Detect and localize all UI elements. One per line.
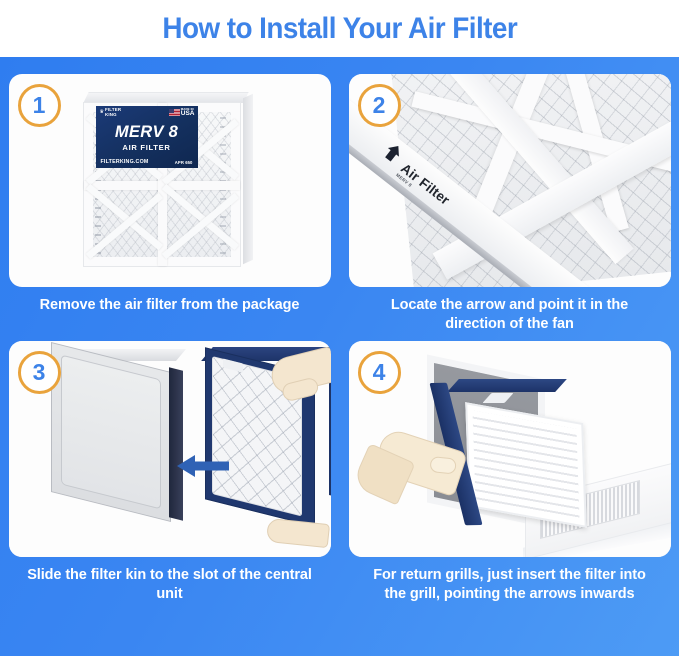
airflow-arrow-icon bbox=[380, 141, 404, 165]
step-4-caption: For return grills, just insert the filte… bbox=[349, 557, 671, 611]
product-label-bottom-row: FILTERKING.COM APR 650 bbox=[96, 159, 198, 165]
return-air-grill bbox=[465, 402, 587, 528]
step-4-number-badge: 4 bbox=[358, 351, 401, 394]
brand-line-2: KING bbox=[105, 112, 117, 117]
step-4-card: 4 bbox=[349, 341, 671, 557]
unit-dark-slot-opening bbox=[169, 367, 183, 520]
central-air-handler-slot bbox=[51, 342, 171, 522]
instructions-board: ♛ FILTER KING bbox=[0, 57, 679, 656]
hand-icon bbox=[265, 517, 329, 547]
filter-front-face: ♛ FILTER KING bbox=[83, 102, 241, 267]
product-label-top-row: ♛ FILTER KING bbox=[96, 106, 198, 118]
step-2: Air Filter MERV 8 2 Locate the arrow and… bbox=[349, 74, 671, 341]
made-in-usa-badge: MADE IN USA bbox=[169, 108, 195, 117]
step-3-card: 3 bbox=[9, 341, 331, 557]
grill-louvers bbox=[472, 410, 579, 519]
step-3-number-badge: 3 bbox=[18, 351, 61, 394]
step-1-caption: Remove the air filter from the package bbox=[9, 287, 331, 321]
step-3: 3 Slide the filter kin to the slot of th… bbox=[9, 341, 331, 611]
merv-rating: MERV 8 bbox=[96, 123, 198, 142]
website-text: FILTERKING.COM bbox=[101, 159, 149, 165]
left-arrow-icon bbox=[177, 453, 229, 484]
crown-icon: ♛ bbox=[100, 110, 104, 115]
step-1-card: ♛ FILTER KING bbox=[9, 74, 331, 287]
page-title: How to Install Your Air Filter bbox=[162, 12, 517, 46]
page-header: How to Install Your Air Filter bbox=[0, 0, 679, 57]
step-2-number-badge: 2 bbox=[358, 84, 401, 127]
brand-logo: ♛ FILTER KING bbox=[100, 108, 122, 118]
product-label: ♛ FILTER KING bbox=[96, 106, 198, 168]
step-3-caption: Slide the filter kin to the slot of the … bbox=[9, 557, 331, 611]
apr-text: APR 650 bbox=[175, 160, 193, 165]
thumb-shape bbox=[429, 456, 457, 475]
filter-body: ♛ FILTER KING bbox=[83, 92, 253, 268]
product-type: AIR FILTER bbox=[96, 143, 198, 152]
country-text: USA bbox=[181, 110, 195, 117]
filter-side-depth bbox=[243, 94, 253, 264]
usa-flag-icon bbox=[169, 109, 180, 116]
step-1: ♛ FILTER KING bbox=[9, 74, 331, 341]
step-1-number-badge: 1 bbox=[18, 84, 61, 127]
unit-slot-recess bbox=[61, 354, 161, 509]
step-2-caption: Locate the arrow and point it in the dir… bbox=[349, 287, 671, 341]
steps-grid: ♛ FILTER KING bbox=[10, 74, 669, 610]
filter-top-frame bbox=[447, 379, 567, 392]
step-2-card: Air Filter MERV 8 2 bbox=[349, 74, 671, 287]
step-4: 4 For return grills, just insert the fil… bbox=[349, 341, 671, 611]
